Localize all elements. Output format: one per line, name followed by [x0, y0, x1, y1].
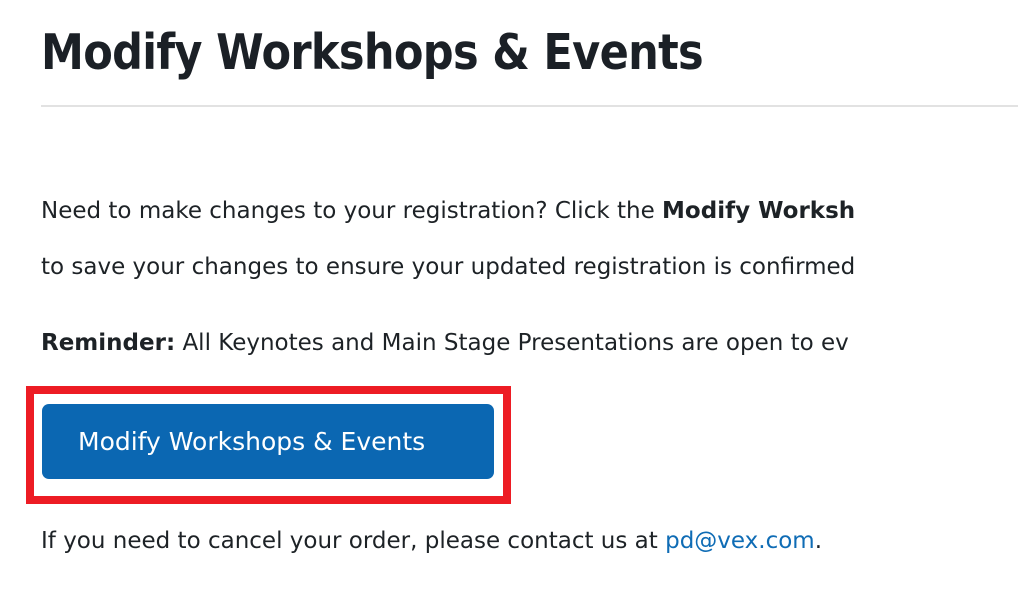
intro-paragraph-line-1: Need to make changes to your registratio… [41, 183, 1018, 239]
support-email-link[interactable]: pd@vex.com [665, 528, 815, 554]
modify-workshops-events-button[interactable]: Modify Workshops & Events [42, 404, 494, 479]
reminder-paragraph: Reminder: All Keynotes and Main Stage Pr… [41, 323, 1018, 363]
cancel-order-text-end: . [815, 528, 822, 554]
intro-paragraph: Need to make changes to your registratio… [41, 183, 1018, 295]
reminder-text: All Keynotes and Main Stage Presentation… [175, 330, 849, 356]
title-divider [41, 105, 1018, 107]
cancel-order-paragraph: If you need to cancel your order, please… [41, 521, 1018, 561]
intro-paragraph-line-2: to save your changes to ensure your upda… [41, 239, 1018, 295]
page-title: Modify Workshops & Events [41, 22, 1018, 84]
page-root: Modify Workshops & Events Need to make c… [0, 0, 1018, 604]
intro-text-prefix: Need to make changes to your registratio… [41, 198, 662, 224]
cancel-order-text: If you need to cancel your order, please… [41, 528, 665, 554]
reminder-label: Reminder: [41, 330, 175, 356]
intro-text-bold: Modify Worksh [662, 198, 855, 224]
